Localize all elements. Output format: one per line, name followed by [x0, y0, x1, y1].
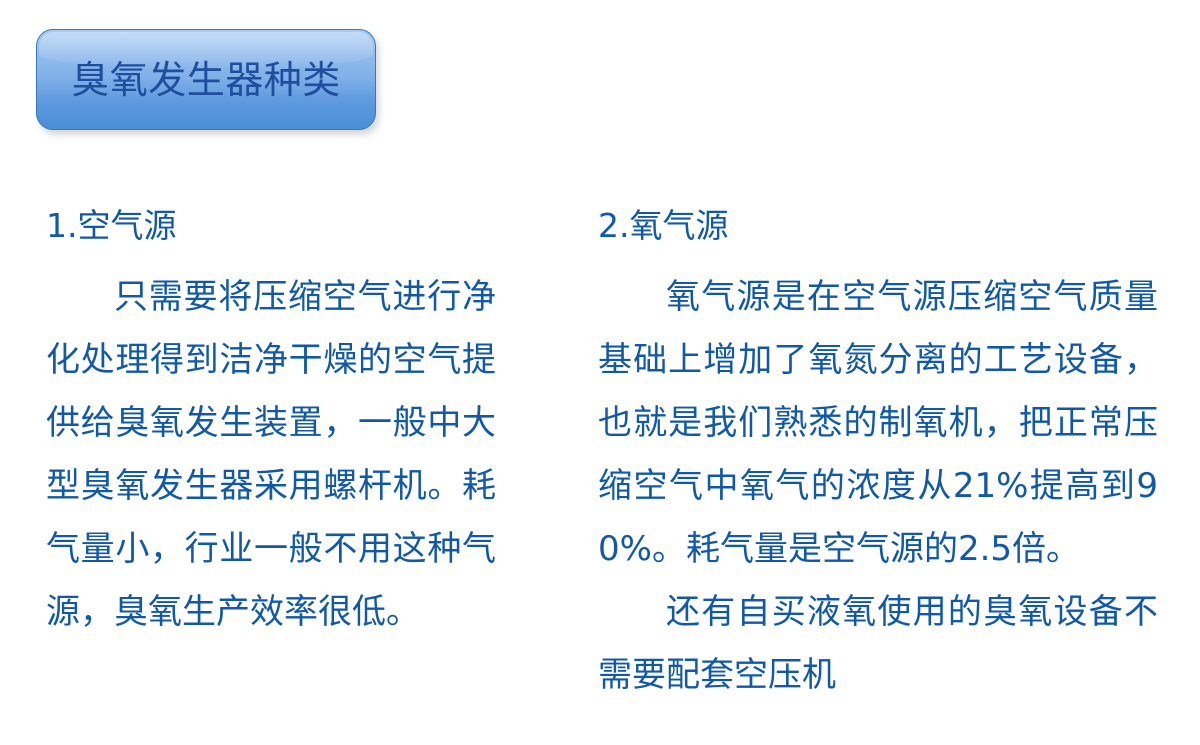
paragraph-air-source-1: 只需要将压缩空气进行净化处理得到洁净干燥的空气提供给臭氧发生装置，一般中大型臭氧…: [46, 266, 496, 644]
column-oxygen-source: 2.氧气源 氧气源是在空气源压缩空气质量基础上增加了氧氮分离的工艺设备，也就是我…: [598, 206, 1158, 707]
section-heading-oxygen-source: 2.氧气源: [598, 206, 1158, 246]
paragraph-oxygen-source-2: 还有自买液氧使用的臭氧设备不需要配套空压机: [598, 581, 1158, 707]
page-title: 臭氧发生器种类: [71, 61, 341, 99]
paragraph-oxygen-source-1: 氧气源是在空气源压缩空气质量基础上增加了氧氮分离的工艺设备，也就是我们熟悉的制氧…: [598, 266, 1158, 581]
section-heading-air-source: 1.空气源: [46, 206, 496, 246]
column-air-source: 1.空气源 只需要将压缩空气进行净化处理得到洁净干燥的空气提供给臭氧发生装置，一…: [46, 206, 496, 644]
slide-title-badge: 臭氧发生器种类: [36, 29, 376, 130]
